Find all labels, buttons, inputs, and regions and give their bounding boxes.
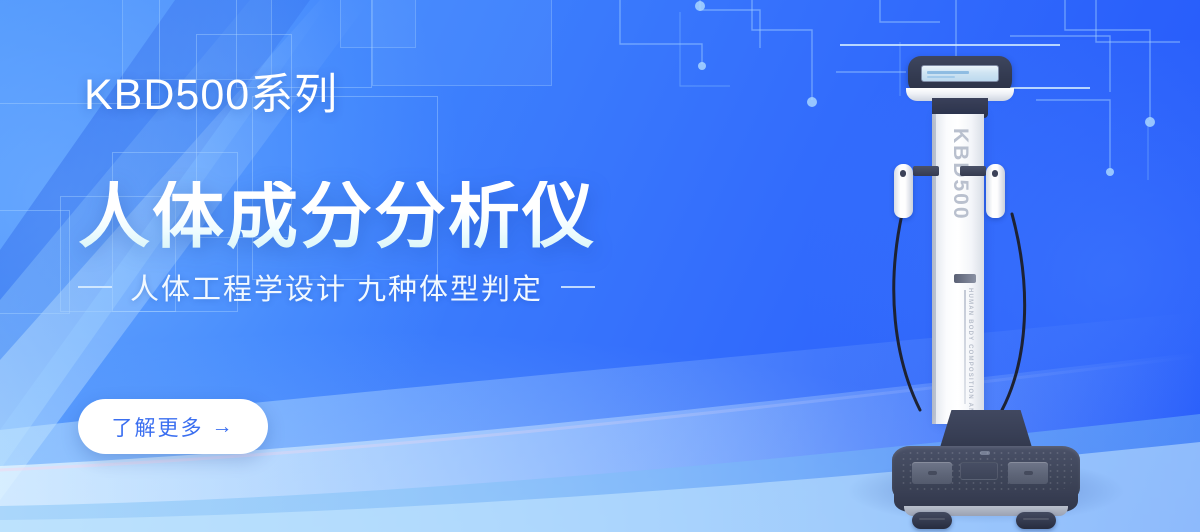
device-handle-right xyxy=(986,156,1005,218)
feature-subtitle-row: 人体工程学设计 九种体型判定 xyxy=(78,266,595,308)
product-image-body-composition-analyzer: KBD500 HUMAN BODY COMPOSITION ANALYZER xyxy=(836,38,1136,532)
foot-electrode-left xyxy=(912,462,952,484)
base-center-plate xyxy=(960,462,998,480)
handle-electrode-right xyxy=(992,170,998,177)
foot-electrode-right xyxy=(1008,462,1048,484)
page-title: 人体成分分析仪 xyxy=(78,181,596,253)
learn-more-button[interactable]: 了解更多 → xyxy=(78,399,268,454)
arrow-right-icon: → xyxy=(212,415,235,439)
divider-dash-right xyxy=(561,286,595,288)
product-series-label: KBD500系列 xyxy=(84,74,338,117)
hero-copy: KBD500系列 人体成分分析仪 人体工程学设计 九种体型判定 了解更多 → xyxy=(0,0,720,532)
base-foot-left xyxy=(912,512,952,529)
learn-more-label: 了解更多 xyxy=(112,412,204,442)
base-indicator xyxy=(980,451,990,455)
base-foot-right xyxy=(1016,512,1056,529)
divider-dash-left xyxy=(78,286,112,288)
device-handle-left xyxy=(894,156,913,218)
device-cables xyxy=(836,38,1136,458)
product-hero-banner: KBD500系列 人体成分分析仪 人体工程学设计 九种体型判定 了解更多 → K… xyxy=(0,0,1200,532)
feature-subtitle: 人体工程学设计 九种体型判定 xyxy=(130,266,543,308)
device-base-platform xyxy=(876,410,1096,530)
device-connector-right xyxy=(960,166,986,176)
device-connector-left xyxy=(913,166,939,176)
handle-electrode-left xyxy=(900,170,906,177)
